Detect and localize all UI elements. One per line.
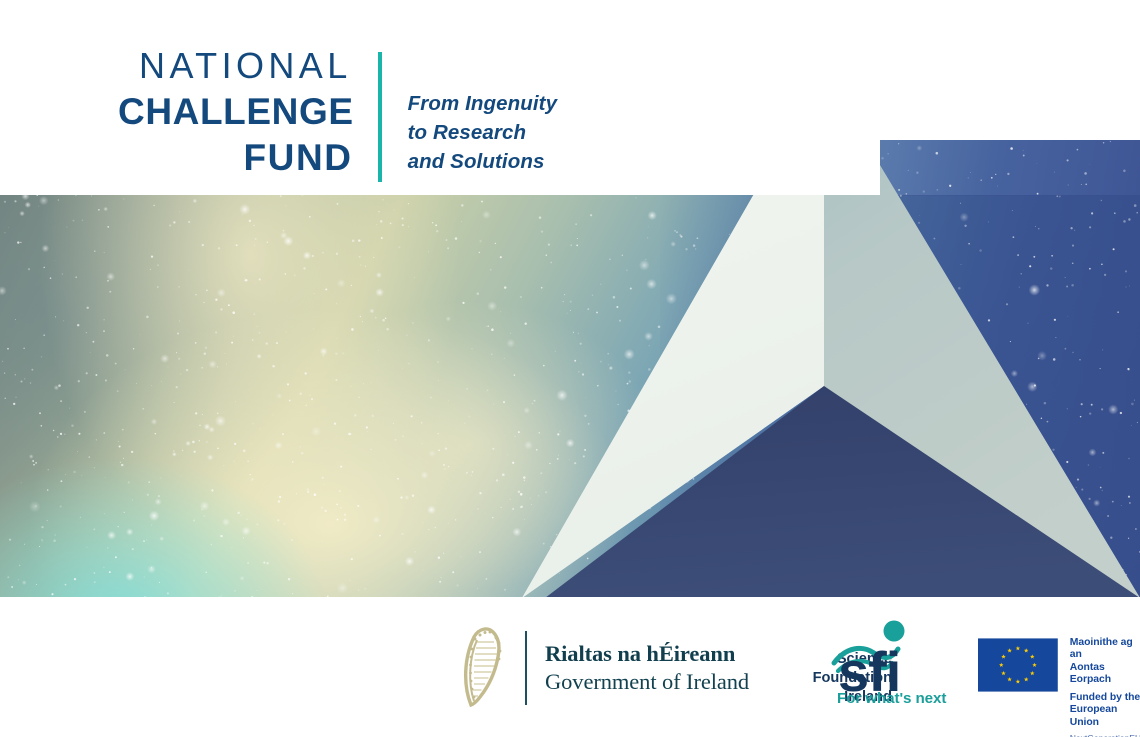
nebula-deep-blue-overlay xyxy=(660,195,1140,597)
eu-irish-line-2: Aontas Eorpach xyxy=(1070,662,1140,687)
ncf-word-fund: FUND xyxy=(118,139,354,176)
eu-flag-icon xyxy=(978,637,1058,693)
ncf-word-challenge: CHALLENGE xyxy=(118,93,354,130)
footer-logo-bar: Rialtas na hÉireann Government of Irelan… xyxy=(0,597,1140,737)
goi-divider xyxy=(525,631,527,705)
eu-irish-line-1: Maoinithe ag an xyxy=(1070,637,1140,662)
dot-icon xyxy=(884,621,905,642)
ncf-word-national: NATIONAL xyxy=(118,48,354,84)
european-union-funding-logo: Maoinithe ag an Aontas Eorpach Funded by… xyxy=(978,637,1140,737)
eu-funding-text: Maoinithe ag an Aontas Eorpach Funded by… xyxy=(1070,637,1140,737)
harp-icon xyxy=(458,625,510,710)
national-challenge-fund-logo: NATIONAL CHALLENGE FUND From Ingenuity t… xyxy=(118,48,557,182)
goi-wordmark: Rialtas na hÉireann Government of Irelan… xyxy=(545,641,749,695)
ncf-tagline: From Ingenuity to Research and Solutions xyxy=(408,89,557,176)
eu-programme-name: NextGenerationEU xyxy=(1070,733,1140,737)
government-of-ireland-logo: Rialtas na hÉireann Government of Irelan… xyxy=(458,625,749,710)
goi-english-name: Government of Ireland xyxy=(545,669,749,695)
sfi-tagline: For what's next xyxy=(837,690,946,707)
ncf-divider xyxy=(378,52,382,182)
eu-english-line-1: Funded by the xyxy=(1070,692,1140,704)
national-challenge-fund-banner: NATIONAL CHALLENGE FUND From Ingenuity t… xyxy=(0,0,1140,737)
goi-irish-name: Rialtas na hÉireann xyxy=(545,641,749,667)
nebula-background-upper-right xyxy=(880,140,1140,196)
eu-english-line-2: European Union xyxy=(1070,704,1140,729)
science-foundation-ireland-logo: Science Foundation Ireland sfi For what'… xyxy=(780,619,940,711)
ncf-wordmark: NATIONAL CHALLENGE FUND xyxy=(118,48,354,176)
